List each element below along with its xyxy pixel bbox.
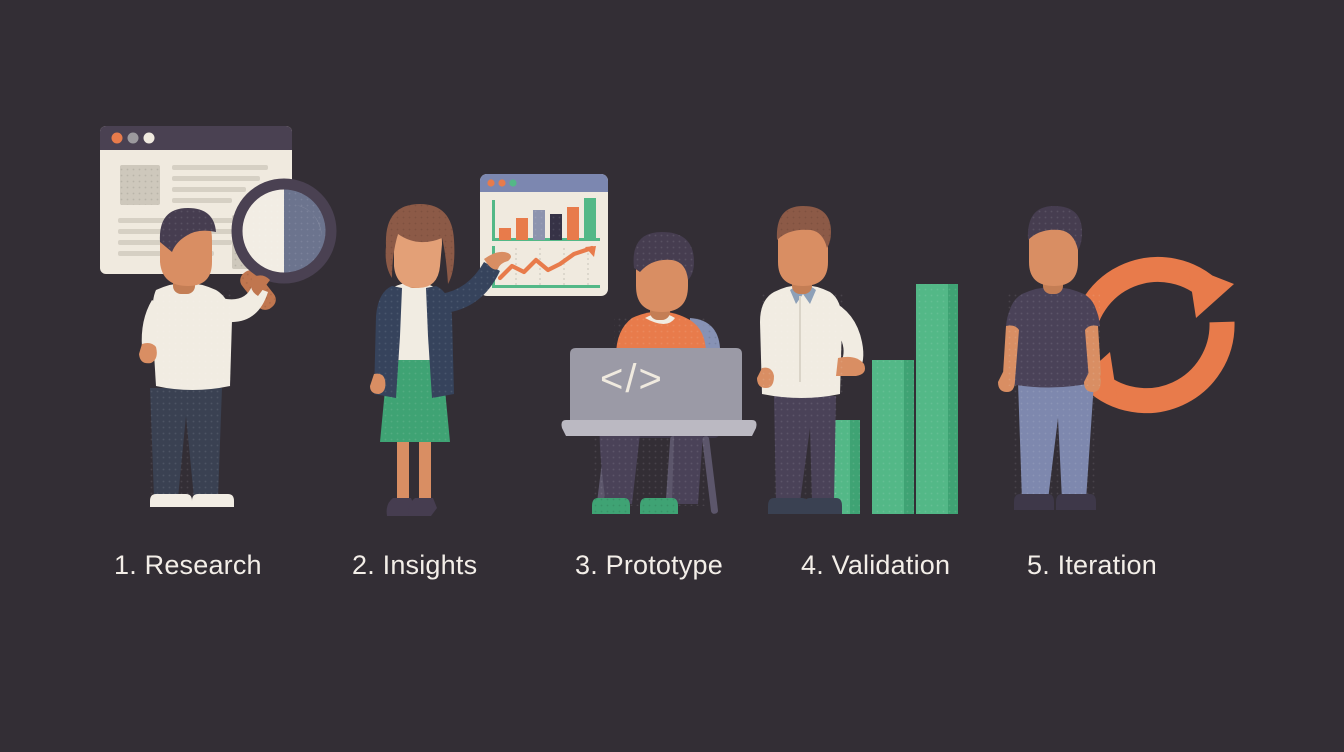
shoe-right	[192, 494, 234, 507]
shoe-left	[150, 494, 192, 507]
heel-right	[409, 498, 437, 516]
insights-dot-1-icon	[487, 179, 494, 186]
shoe-right-validation	[804, 498, 842, 514]
close-dot-icon	[112, 133, 123, 144]
step-label-research: 1. Research	[114, 548, 262, 582]
insights-dot-2-icon	[498, 179, 505, 186]
process-illustration: </>	[0, 0, 1344, 752]
shoe-left-validation	[768, 498, 808, 514]
minimize-dot-icon	[128, 133, 139, 144]
step-labels-row: 1. Research 2. Insights 3. Prototype 4. …	[0, 548, 1344, 598]
step-label-iteration: 5. Iteration	[1027, 548, 1157, 582]
shoe-left-iteration	[1014, 494, 1054, 510]
code-symbol-icon: </>	[600, 357, 664, 401]
step-label-prototype: 3. Prototype	[575, 548, 723, 582]
step-label-insights: 2. Insights	[352, 548, 477, 582]
window-traffic-dots	[112, 133, 155, 144]
maximize-dot-icon	[144, 133, 155, 144]
laptop-with-code: </>	[562, 348, 757, 436]
step-label-validation: 4. Validation	[801, 548, 950, 582]
shoe-right-iteration	[1056, 494, 1096, 510]
insights-chart-window	[480, 174, 608, 296]
illustration-canvas: </>	[0, 0, 1344, 752]
insights-dot-3-icon	[509, 179, 516, 186]
